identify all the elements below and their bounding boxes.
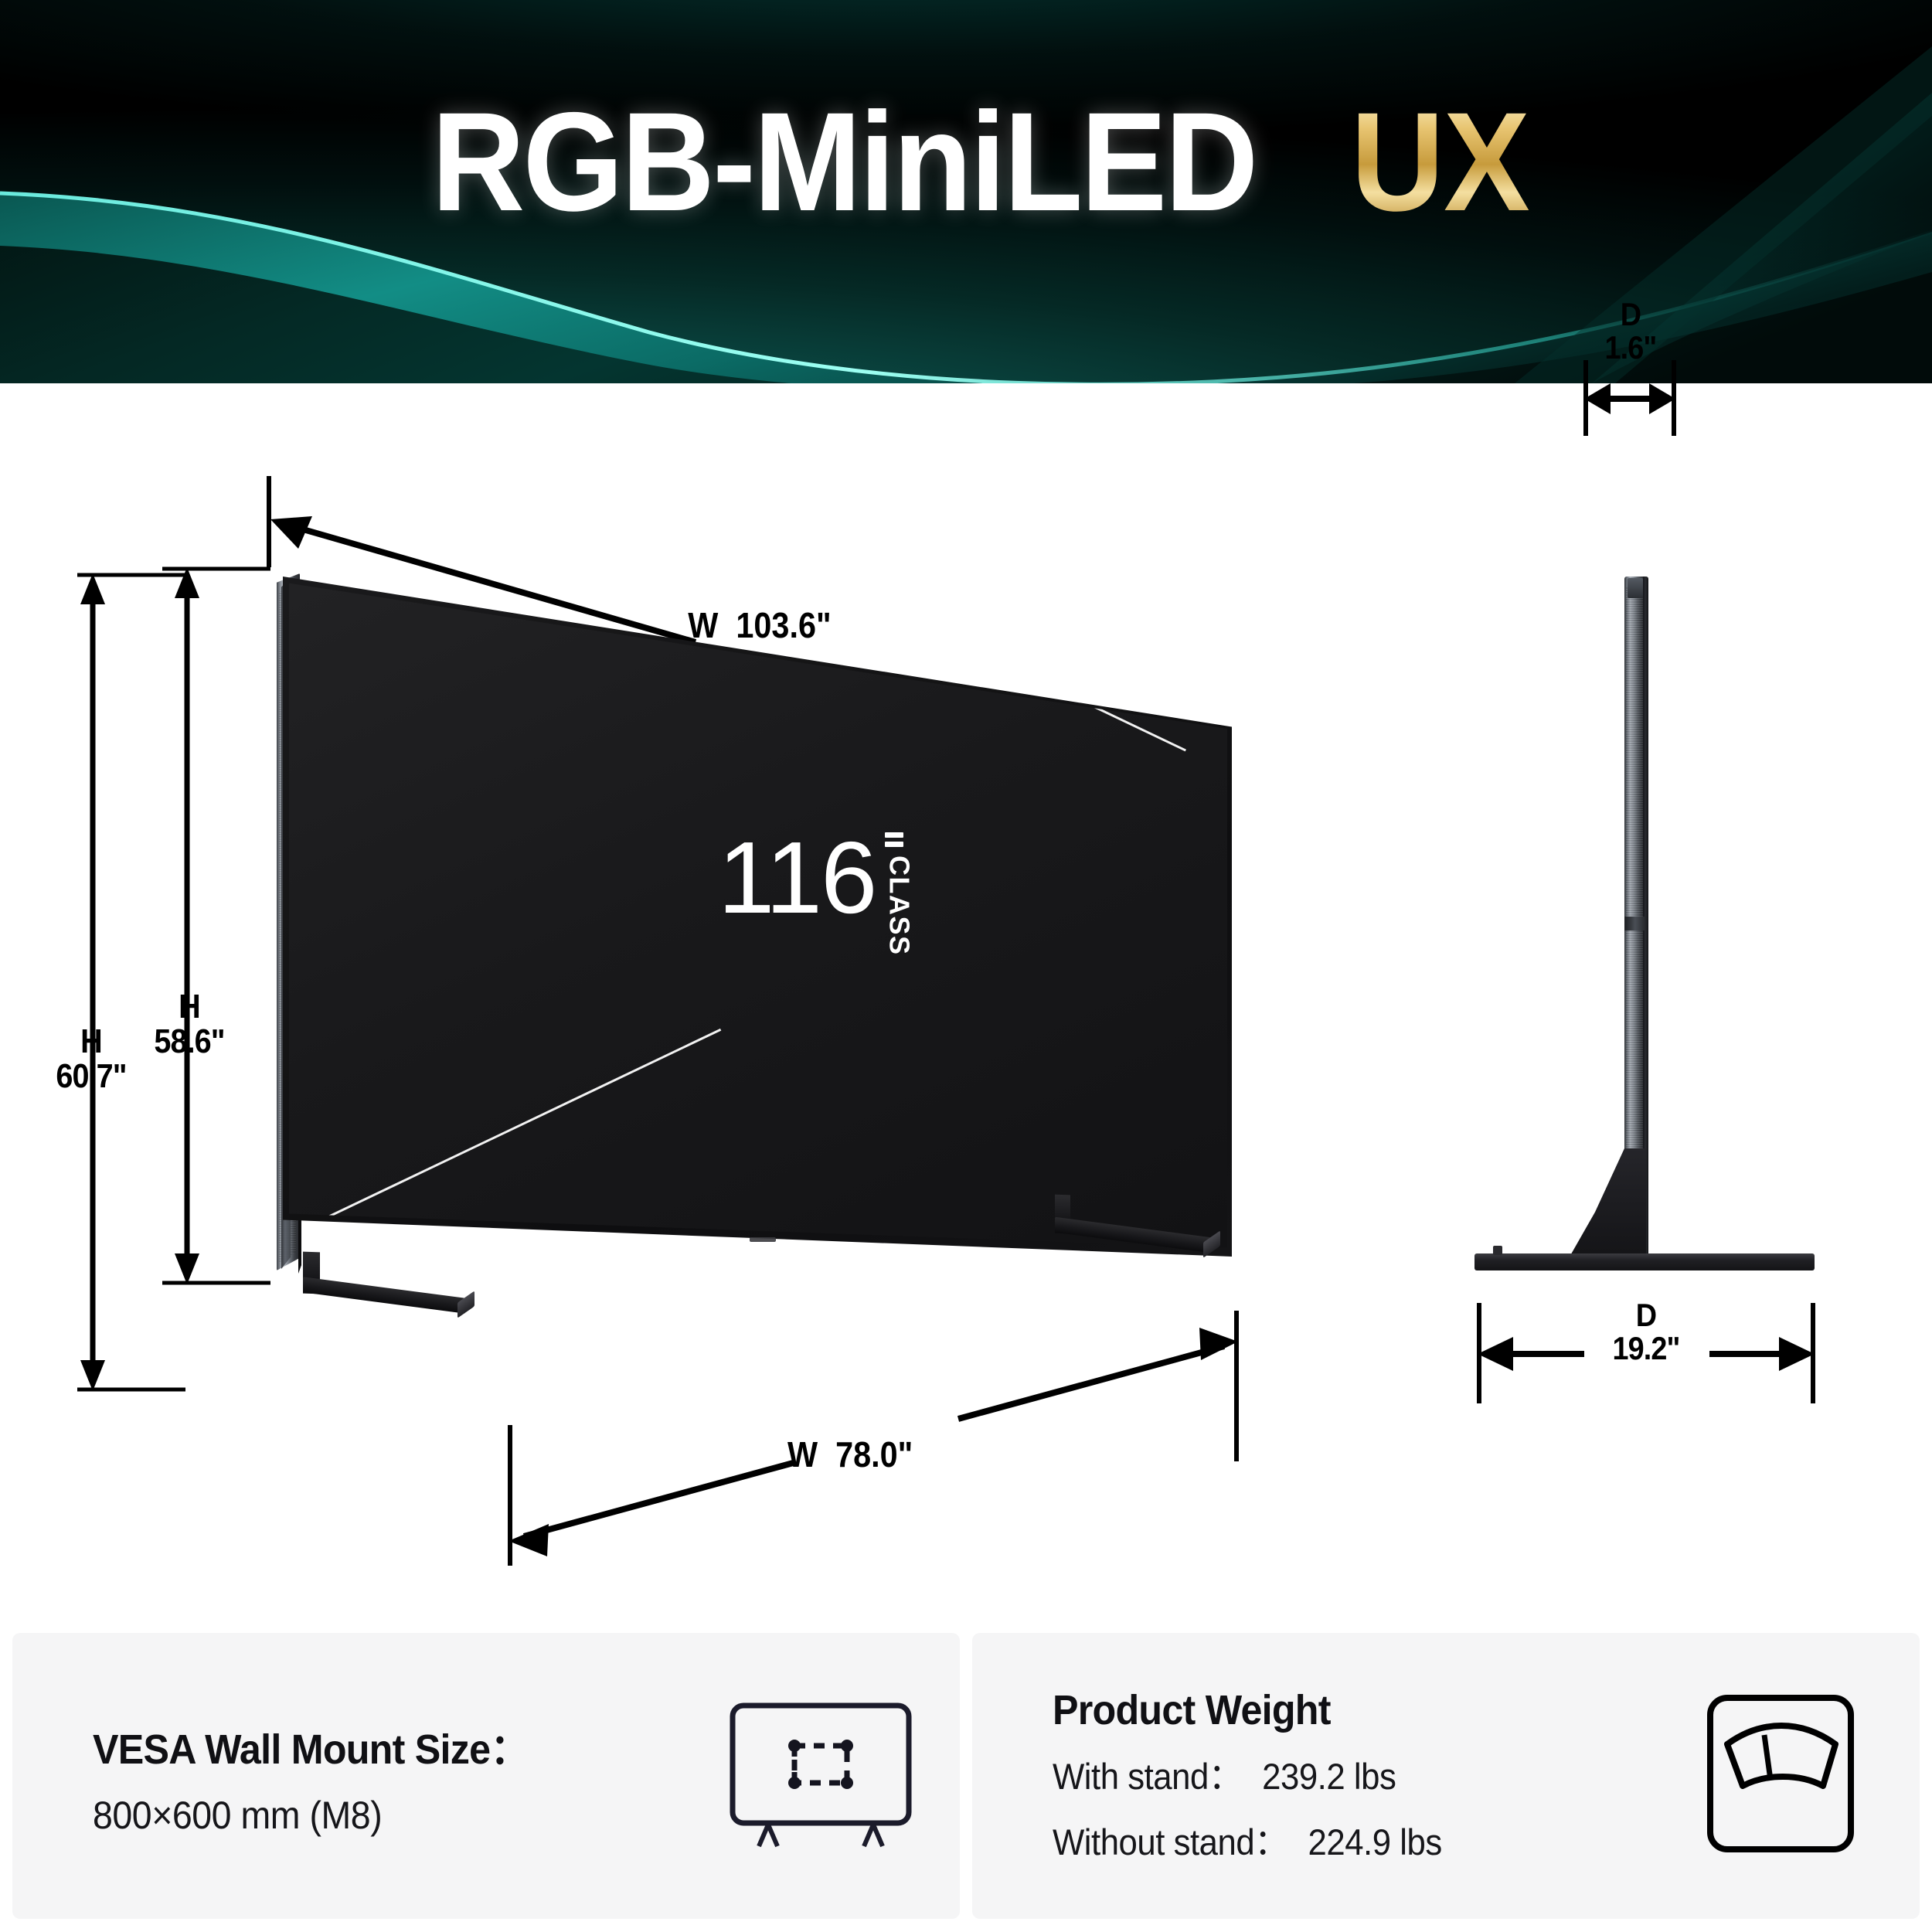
height-overall-value: 60.7"	[22, 1060, 161, 1094]
tv-stand-neck	[1569, 1148, 1646, 1258]
weight-icon-wrap	[1641, 1687, 1920, 1865]
height-panel-symbol: H	[124, 990, 256, 1025]
inch-mark-icon	[885, 832, 903, 851]
depth-stand-symbol: D	[1583, 1299, 1709, 1332]
tv-side-port-strip	[1624, 917, 1646, 930]
weight-without-stand-value: 224.9 lbs	[1308, 1821, 1441, 1862]
width-stand-label: W 78.0"	[787, 1437, 913, 1473]
banner-title-main: RGB-MiniLED	[431, 91, 1256, 232]
screen-size-number: 116	[718, 832, 876, 923]
depth-panel-dimension	[1569, 360, 1692, 445]
tv-side-top-cap	[1628, 578, 1643, 598]
weight-row-with-stand: With stand：239.2 lbs	[1053, 1747, 1600, 1800]
vesa-card: VESA Wall Mount Size： 800×600 mm (M8)	[12, 1633, 960, 1919]
width-stand-value: 78.0"	[835, 1434, 913, 1475]
vesa-card-value: 800×600 mm (M8)	[93, 1793, 641, 1838]
tv-brand-logo	[750, 1237, 776, 1242]
tv-foot-left-cap	[457, 1291, 474, 1318]
banner-title-accent: UX	[1351, 91, 1529, 232]
dimension-diagram: H 60.7" H 58.6" W 103.6"	[0, 383, 1932, 1633]
tv-vesa-mount-icon	[720, 1695, 921, 1857]
weight-card-title: Product Weight	[1053, 1686, 1600, 1734]
tv-stand-base-nub	[1493, 1246, 1502, 1255]
screen-class-label: CLASS	[885, 855, 913, 956]
height-panel-value: 58.6"	[124, 1025, 256, 1060]
banner-title: RGB-MiniLEDUX	[0, 91, 1932, 232]
bathroom-scale-icon	[1699, 1687, 1862, 1865]
weight-with-stand-value: 239.2 lbs	[1262, 1756, 1396, 1797]
tv-side-view	[1453, 577, 1839, 1318]
tv-stand-base	[1475, 1253, 1815, 1270]
weight-row-without-stand: Without stand：224.9 lbs	[1053, 1812, 1600, 1866]
height-panel-label: H 58.6"	[124, 990, 256, 1060]
depth-panel-symbol: D	[1568, 298, 1693, 332]
info-cards: VESA Wall Mount Size： 800×600 mm (M8)	[0, 1633, 1932, 1932]
weight-with-stand-label: With stand：	[1053, 1756, 1242, 1797]
vesa-card-title: VESA Wall Mount Size：	[93, 1715, 641, 1776]
width-stand-symbol: W	[787, 1434, 818, 1475]
weight-without-stand-label: Without stand：	[1053, 1821, 1287, 1862]
weight-card: Product Weight With stand：239.2 lbs With…	[972, 1633, 1920, 1919]
vesa-icon-wrap	[682, 1695, 960, 1857]
diagonal-line-lower	[281, 1029, 721, 1240]
screen-size-badge: 116 CLASS	[718, 832, 913, 956]
tv-foot-left	[303, 1277, 465, 1314]
diagonal-line-upper	[829, 580, 1186, 751]
depth-panel-label: D 1.6"	[1568, 298, 1693, 365]
tv-front-view: 116 CLASS	[255, 577, 1236, 1311]
depth-stand-label: D 19.2"	[1583, 1299, 1709, 1366]
tv-screen: 116 CLASS	[289, 581, 1227, 1252]
depth-stand-value: 19.2"	[1583, 1332, 1709, 1366]
